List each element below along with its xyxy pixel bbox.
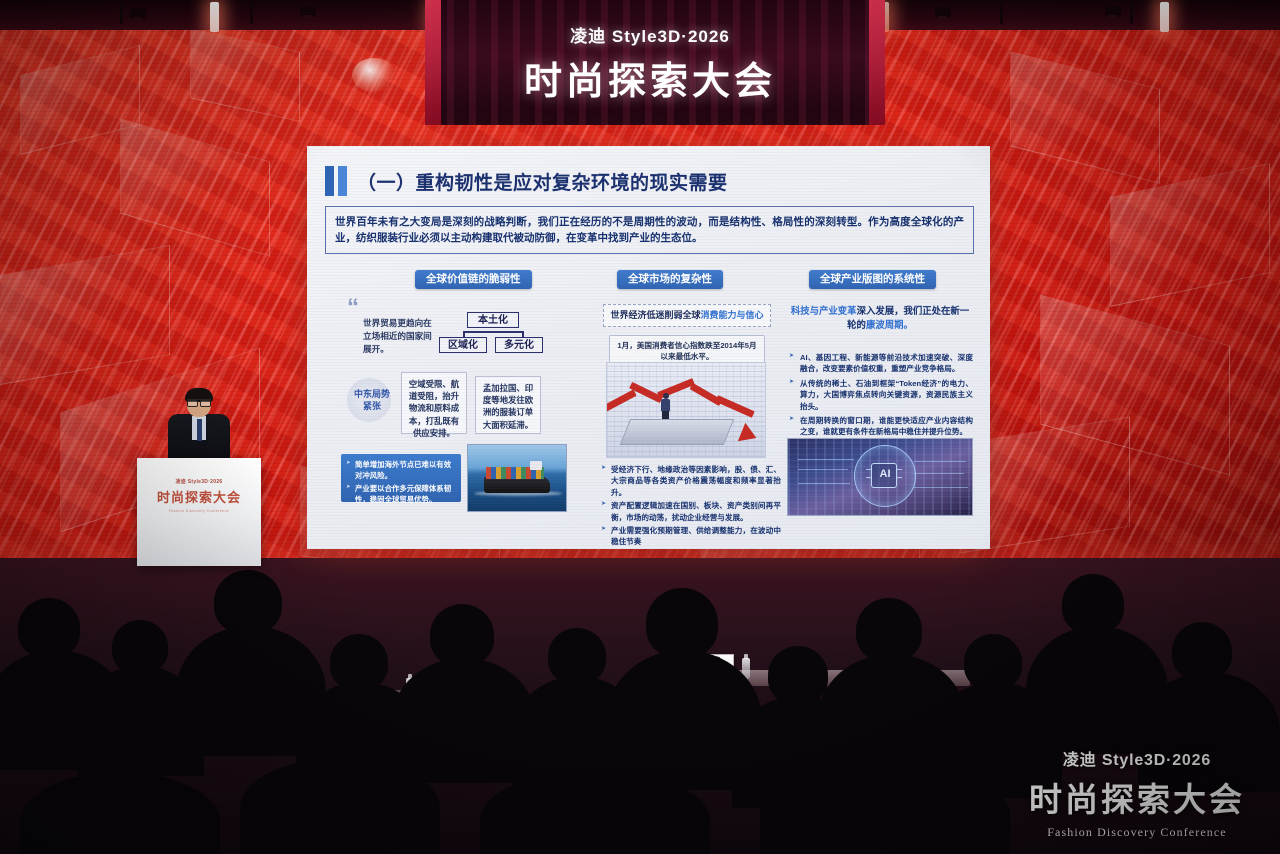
list-item: 产业需要强化预期管理、供给调整能力，在波动中稳住节奏 bbox=[601, 525, 781, 548]
column3-headline-highlight: 科技与产业变革 bbox=[791, 305, 857, 316]
presentation-slide: （一）重构韧性是应对复杂环境的现实需要 世界百年未有之大变局是深刻的战略判断，我… bbox=[307, 146, 990, 549]
column1-circle-label: 中东局势紧张 bbox=[353, 388, 391, 412]
glasses-icon bbox=[187, 399, 211, 404]
podium-logo-title: 时尚探索大会 bbox=[137, 487, 261, 506]
watermark-subtitle: Fashion Discovery Conference bbox=[1012, 825, 1262, 840]
slide-lead-paragraph: 世界百年未有之大变局是深刻的战略判断，我们正在经历的不是周期性的波动，而是结构性… bbox=[325, 206, 974, 254]
ai-chip-label: AI bbox=[872, 468, 898, 480]
column1-note-2: 孟加拉国、印度等地发往欧洲的服装订单大面积延滞。 bbox=[475, 376, 541, 434]
column3-bullets: AI、基因工程、新能源等前沿技术加速突破、深度融合，改变要素价值权重，重塑产业竞… bbox=[789, 352, 973, 441]
podium: 凌迪 Style3D·2026 时尚探索大会 Fashion Discovery… bbox=[137, 458, 261, 566]
declining-arrow-chart-image bbox=[606, 362, 766, 458]
column-header-1: 全球价值链的脆弱性 bbox=[415, 270, 532, 289]
chip-diversification: 多元化 bbox=[495, 337, 543, 353]
light-cluster bbox=[352, 58, 396, 92]
column1-quote: 世界贸易更趋向在立场相近的国家间展开。 bbox=[363, 317, 437, 356]
column1-note-1: 空域受限、航道受阻，抬升物流和原料成本，打乱既有供应安排。 bbox=[401, 372, 467, 434]
podium-logo: 凌迪 Style3D·2026 时尚探索大会 Fashion Discovery… bbox=[137, 478, 261, 513]
podium-logo-subtitle: Fashion Discovery Conference bbox=[137, 509, 261, 513]
list-item: 在周期转换的窗口期，谁能更快适应产业内容结构之变，谁就更有条件在新格局中稳住并提… bbox=[789, 415, 973, 438]
ai-chip-image: AI bbox=[787, 438, 973, 516]
chip-localization: 本土化 bbox=[467, 312, 519, 328]
list-item: AI、基因工程、新能源等前沿技术加速突破、深度融合，改变要素价值权重，重塑产业竞… bbox=[789, 352, 973, 375]
stage-header-logo: 凌迪 Style3D·2026 时尚探索大会 bbox=[505, 22, 795, 105]
column-header-3: 全球产业版图的系统性 bbox=[809, 270, 936, 289]
list-item: 资产配置逻辑加速在国别、板块、资产类别间再平衡，市场的动荡，扰动企业经营与发展。 bbox=[601, 500, 781, 523]
header-logo-title: 时尚探索大会 bbox=[505, 50, 795, 105]
spotlight bbox=[935, 7, 951, 18]
watermark-title: 时尚探索大会 bbox=[1012, 773, 1262, 821]
slide-title-row: （一）重构韧性是应对复杂环境的现实需要 bbox=[325, 166, 728, 196]
stage-light-tube bbox=[210, 2, 219, 32]
spotlight bbox=[300, 6, 316, 17]
list-item: 产业要以合作多元保障体系韧性，稳固全球贸易优势。 bbox=[346, 484, 455, 505]
chip-regionalization: 区域化 bbox=[439, 337, 487, 353]
column3-headline: 科技与产业变革深入发展，我们正处在新一轮的康波周期。 bbox=[787, 304, 973, 332]
column3-headline-tail: 康波周期。 bbox=[866, 319, 913, 330]
title-bars-icon bbox=[325, 166, 347, 196]
spotlight bbox=[130, 8, 146, 19]
speaker-person bbox=[168, 390, 230, 460]
list-item: 受经济下行、地缘政治等因素影响，股、债、汇、大宗商品等各类资产价格震荡幅度和频率… bbox=[601, 464, 781, 498]
column2-bullets: 受经济下行、地缘政治等因素影响，股、债、汇、大宗商品等各类资产价格震荡幅度和频率… bbox=[601, 464, 781, 549]
container-ship-image bbox=[467, 444, 567, 512]
header-logo-brand: 凌迪 Style3D·2026 bbox=[505, 22, 795, 47]
column2-headline: 世界经济低迷削弱全球消费能力与信心 bbox=[603, 304, 771, 327]
quote-mark-icon: “ bbox=[347, 300, 359, 317]
watermark-brand: 凌迪 Style3D·2026 bbox=[1012, 746, 1262, 770]
list-item: 从传统的稀土、石油到框架“Token经济”的电力、算力，大国博弈焦点转向关键资源… bbox=[789, 378, 973, 412]
column2-headline-highlight: 消费能力与信心 bbox=[701, 310, 764, 320]
column2-headline-prefix: 世界经济低迷削弱全球 bbox=[610, 310, 700, 320]
podium-logo-brand: 凌迪 Style3D·2026 bbox=[137, 478, 261, 485]
conference-watermark: 凌迪 Style3D·2026 时尚探索大会 Fashion Discovery… bbox=[1012, 746, 1262, 840]
slide-title: （一）重构韧性是应对复杂环境的现实需要 bbox=[357, 168, 728, 195]
stage-light-tube bbox=[1160, 2, 1169, 32]
conference-photo-scene: 凌迪 Style3D·2026 时尚探索大会 （一）重构韧性是应对复杂环境的现实… bbox=[0, 0, 1280, 854]
column1-bullets: 简单增加海外节点已难以有效对冲风险。 产业要以合作多元保障体系韧性，稳固全球贸易… bbox=[341, 454, 461, 502]
column-header-2: 全球市场的复杂性 bbox=[617, 270, 723, 289]
list-item: 简单增加海外节点已难以有效对冲风险。 bbox=[346, 460, 455, 481]
spotlight bbox=[1105, 6, 1121, 17]
